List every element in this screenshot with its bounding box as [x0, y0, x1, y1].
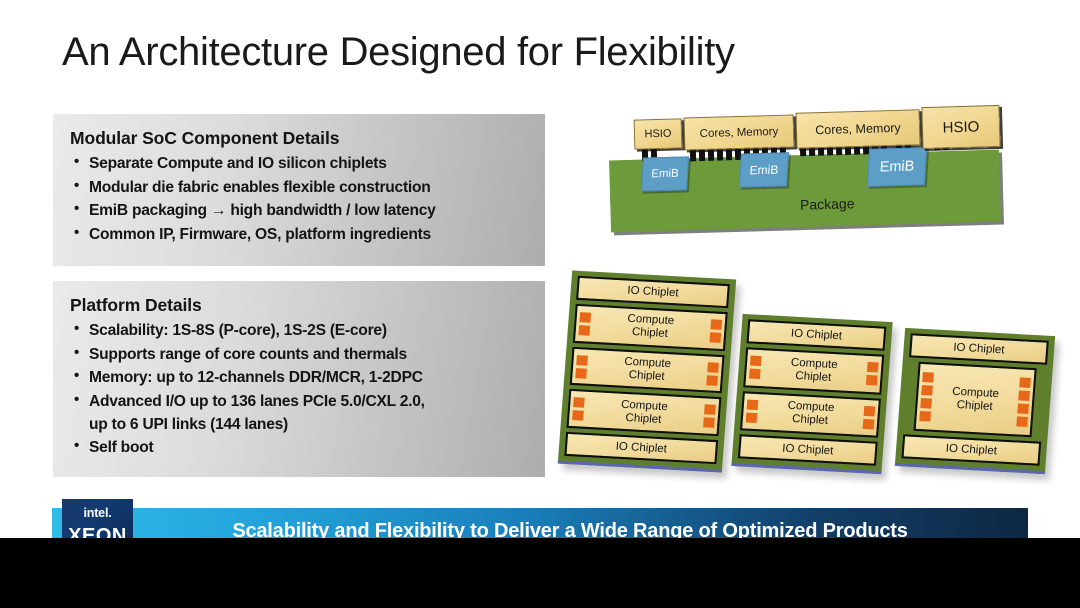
emib-connector-left	[746, 399, 759, 423]
emib-connector-left	[575, 355, 588, 379]
die-hsio-left: HSIO	[634, 118, 683, 149]
die-cores-right: Cores, Memory	[796, 109, 921, 148]
compute-chiplet: Compute Chiplet	[570, 346, 725, 393]
list-item: Self boot	[73, 436, 535, 460]
list-item: Scalability: 1S-8S (P-core), 1S-2S (E-co…	[73, 319, 535, 343]
io-chiplet: IO Chiplet	[909, 333, 1049, 365]
compute-chiplet-line2: Chiplet	[956, 399, 993, 414]
list-item-line1: Advanced I/O up to 136 lanes PCIe 5.0/CX…	[89, 393, 425, 410]
compute-chiplet: Compute Chiplet	[740, 391, 881, 438]
emib-connector-right	[706, 362, 719, 386]
compute-chiplet-line2: Chiplet	[631, 326, 668, 341]
compute-chiplet: Compute Chiplet	[743, 347, 884, 394]
list-item: EmiB packaging → high bandwidth / low la…	[73, 199, 535, 223]
platform-details-heading: Platform Details	[53, 281, 545, 319]
compute-chiplet: Compute Chiplet	[566, 389, 721, 436]
compute-chiplet-large: Compute Chiplet	[914, 362, 1037, 437]
page-title: An Architecture Designed for Flexibility	[62, 30, 735, 75]
list-item: Memory: up to 12-channels DDR/MCR, 1-2DP…	[73, 366, 535, 390]
list-item-line2: up to 6 UPI links (144 lanes)	[89, 414, 535, 436]
list-item: Advanced I/O up to 136 lanes PCIe 5.0/CX…	[73, 390, 535, 436]
list-item: Modular die fabric enables flexible cons…	[73, 176, 535, 200]
emib-connector-right	[863, 406, 876, 430]
compute-chiplet-line2: Chiplet	[792, 413, 829, 428]
list-item: Common IP, Firmware, OS, platform ingred…	[73, 223, 535, 247]
modular-soc-heading: Modular SoC Component Details	[53, 114, 545, 152]
io-chiplet: IO Chiplet	[564, 432, 718, 464]
die-hsio-right: HSIO	[921, 105, 1000, 149]
die-cores-left: Cores, Memory	[684, 114, 795, 150]
black-crop-bar	[0, 538, 1080, 608]
list-item: Separate Compute and IO silicon chiplets	[73, 152, 535, 176]
emib-connector-left	[919, 372, 934, 422]
package-cross-section-diagram: EmiB EmiB EmiB HSIO Cores, Memory Cores,…	[600, 100, 1020, 255]
platform-details-bullet-list: Scalability: 1S-8S (P-core), 1S-2S (E-co…	[53, 319, 545, 459]
compute-chiplet-line2: Chiplet	[795, 370, 832, 385]
compute-chiplet-line2: Chiplet	[628, 369, 665, 384]
emib-connector-left	[572, 397, 585, 421]
intel-wordmark: intel.	[84, 506, 112, 520]
emib-block: EmiB	[739, 152, 789, 187]
list-item: Supports range of core counts and therma…	[73, 343, 535, 367]
emib-connector-right	[1016, 377, 1031, 427]
io-chiplet: IO Chiplet	[747, 319, 887, 351]
emib-connector-left	[749, 356, 762, 380]
slide-canvas: An Architecture Designed for Flexibility…	[0, 0, 1080, 608]
emib-block: EmiB	[641, 156, 689, 191]
modular-soc-panel: Modular SoC Component Details Separate C…	[53, 114, 545, 266]
package-label: Package	[800, 195, 855, 213]
compute-chiplet: Compute Chiplet	[573, 304, 728, 351]
emib-block: EmiB	[867, 147, 927, 187]
emib-connector-right	[703, 404, 716, 428]
modular-soc-bullet-list: Separate Compute and IO silicon chiplets…	[53, 152, 545, 247]
platform-details-panel: Platform Details Scalability: 1S-8S (P-c…	[53, 281, 545, 477]
chiplet-package-4-compute: IO Chiplet Compute Chiplet Compute Chipl…	[558, 270, 736, 472]
chiplet-package-2-compute: IO Chiplet Compute Chiplet Compute Chipl…	[731, 314, 892, 474]
chiplet-package-1-compute: IO Chiplet Compute Chiplet IO Chiplet	[895, 328, 1055, 474]
io-chiplet: IO Chiplet	[576, 276, 730, 308]
emib-connector-right	[709, 319, 722, 343]
io-chiplet: IO Chiplet	[901, 434, 1041, 466]
compute-chiplet-line2: Chiplet	[625, 412, 662, 427]
emib-connector-right	[866, 362, 879, 386]
io-chiplet: IO Chiplet	[738, 434, 878, 466]
emib-connector-left	[578, 312, 591, 336]
